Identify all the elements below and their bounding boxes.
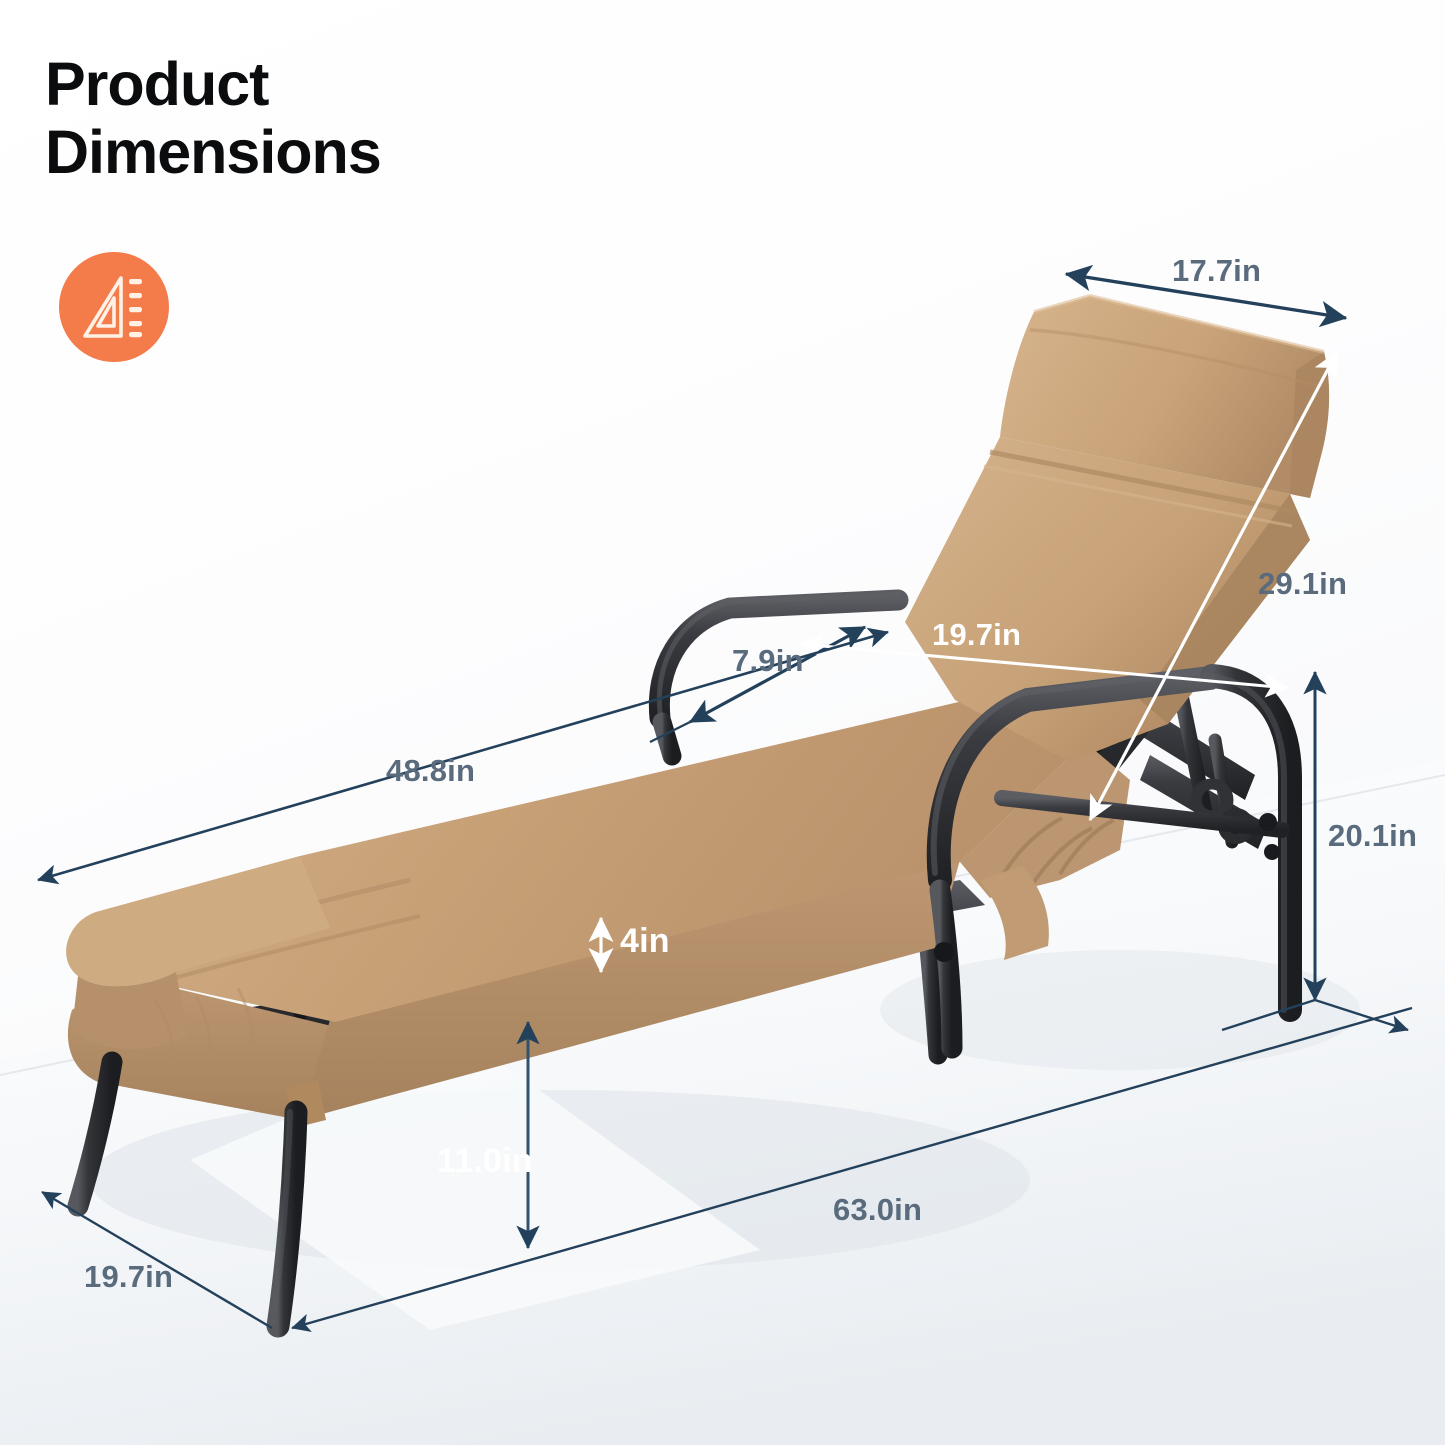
dimension-label-pillow-thickness: 7.9in: [732, 643, 804, 679]
dimension-label-seat-height: 11.0in: [437, 1142, 533, 1181]
product-dimensions-scene: Product Dimensions: [0, 0, 1445, 1445]
dimension-label-cushion-thickness: 4in: [620, 922, 670, 961]
dimension-label-armrest-height: 20.1in: [1328, 818, 1417, 854]
dimension-label-cushion-length: 48.8in: [386, 753, 475, 789]
dimension-label-backrest-height: 29.1in: [1258, 566, 1347, 602]
dimension-label-overall-length: 63.0in: [833, 1192, 922, 1228]
dimension-label-seat-width: 19.7in: [932, 617, 1021, 653]
dimension-label-overall-width: 19.7in: [84, 1259, 173, 1295]
dimension-label-backrest-width: 17.7in: [1172, 253, 1261, 289]
chaise-lounge-illustration: [0, 0, 1445, 1445]
